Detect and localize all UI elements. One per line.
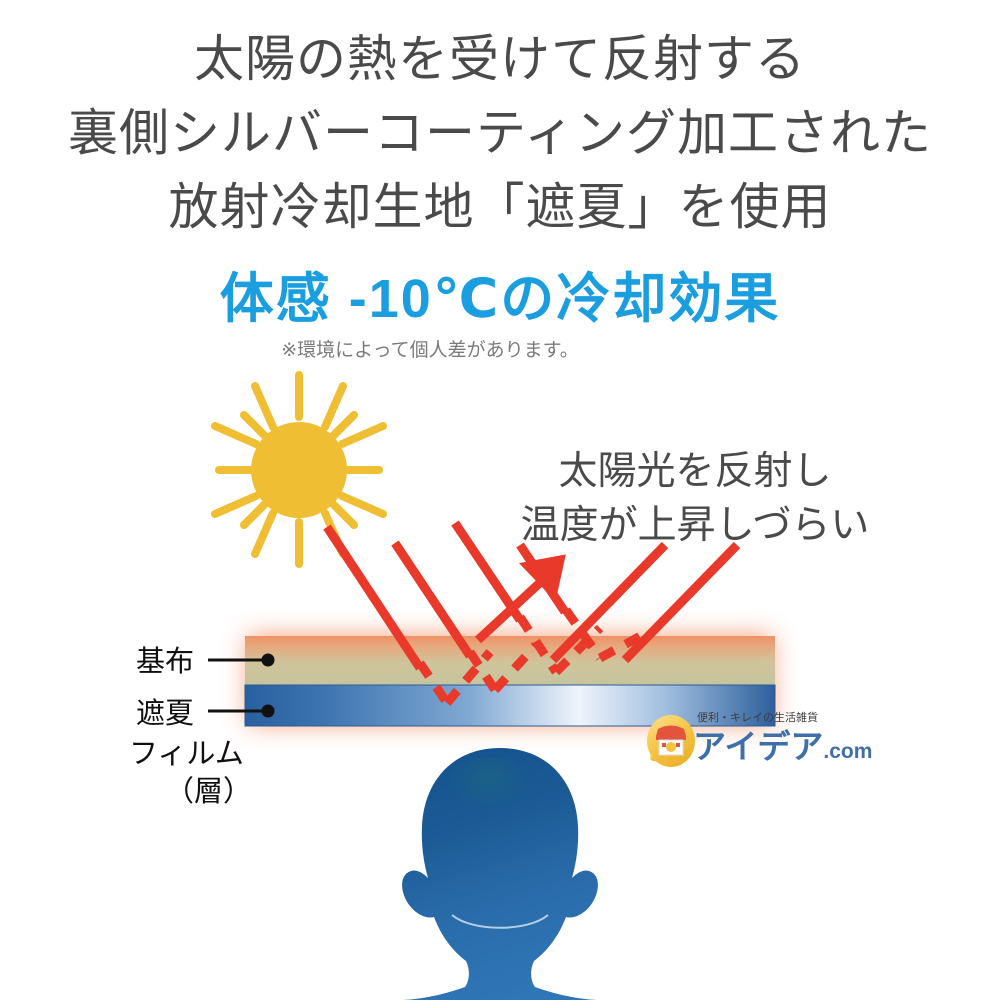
- label-film-line-3: （層）: [165, 773, 252, 811]
- logo-name-main: アイデア: [693, 728, 823, 765]
- label-base-fabric: 基布: [136, 643, 194, 681]
- head-silhouette: [400, 748, 600, 1000]
- label-film-line-2: フィルム: [129, 735, 244, 773]
- infographic-canvas: 太陽の熱を受けて反射する 裏側シルバーコーティング加工された 放射冷却生地「遮夏…: [0, 0, 1000, 1000]
- base-fabric-layer: [245, 636, 775, 685]
- label-film-line-1: 遮夏: [136, 695, 194, 733]
- brand-logo[interactable]: 便利・キレイの生活雑貨 アイデア.com: [645, 710, 895, 766]
- shop-icon: [645, 712, 697, 768]
- sun-icon: [215, 375, 383, 564]
- logo-name: アイデア.com: [693, 720, 872, 768]
- diagram-scene: [0, 0, 1000, 1000]
- logo-name-suffix: .com: [823, 740, 872, 763]
